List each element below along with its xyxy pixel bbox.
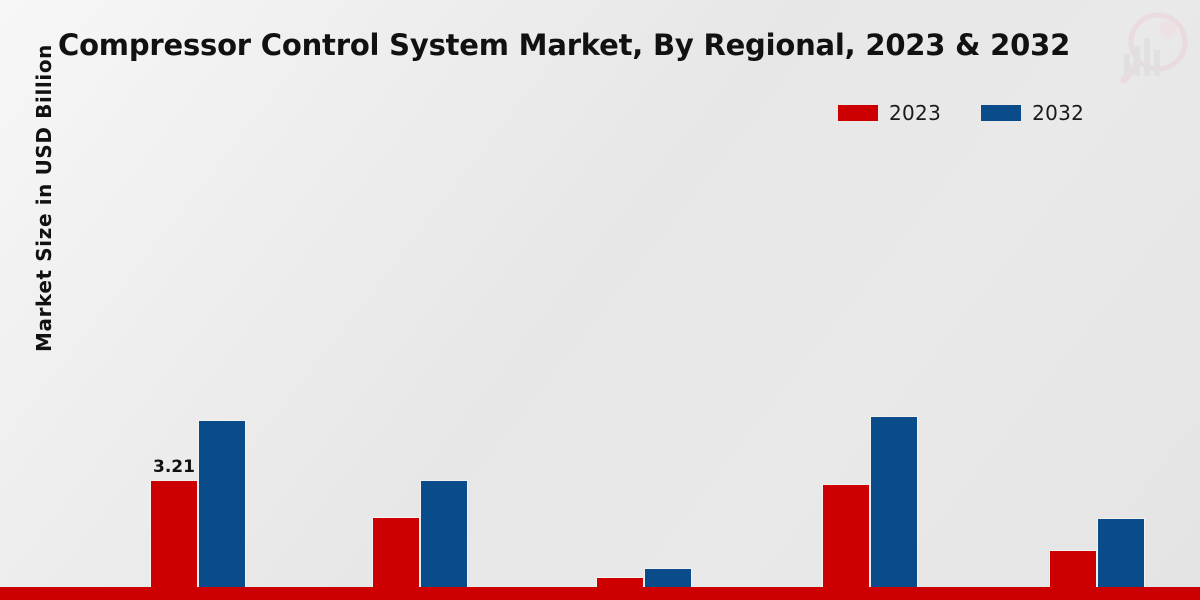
bar-2032-asia-pacific[interactable] <box>870 416 918 590</box>
bar-value-label: 3.21 <box>153 457 195 477</box>
bar-2032-middle-east-and-africa[interactable] <box>1097 518 1145 590</box>
chart-legend: 2023 2032 <box>838 101 1084 125</box>
bar-2032-europe[interactable] <box>420 480 468 590</box>
legend-item-2032[interactable]: 2032 <box>981 101 1084 125</box>
bar-2023-middle-east-and-africa[interactable] <box>1049 550 1097 590</box>
chart-title: Compressor Control System Market, By Reg… <box>58 28 1070 62</box>
chart-page: Compressor Control System Market, By Reg… <box>0 0 1200 600</box>
bar-2032-north-america[interactable] <box>198 420 246 590</box>
market-research-future-logo-icon <box>1098 8 1194 100</box>
bar-2023-asia-pacific[interactable] <box>822 484 870 590</box>
plot-area: 3.21NORTHAMERICAEUROPESOUTHAMERICAASIAPA… <box>40 140 1200 450</box>
legend-swatch-2032 <box>981 105 1021 121</box>
legend-swatch-2023 <box>838 105 878 121</box>
bar-2023-europe[interactable] <box>372 517 420 590</box>
legend-label-2032: 2032 <box>1032 101 1084 125</box>
bottom-accent-strip <box>0 587 1200 600</box>
legend-label-2023: 2023 <box>889 101 941 125</box>
bar-2023-north-america[interactable]: 3.21 <box>150 480 198 590</box>
legend-item-2023[interactable]: 2023 <box>838 101 941 125</box>
